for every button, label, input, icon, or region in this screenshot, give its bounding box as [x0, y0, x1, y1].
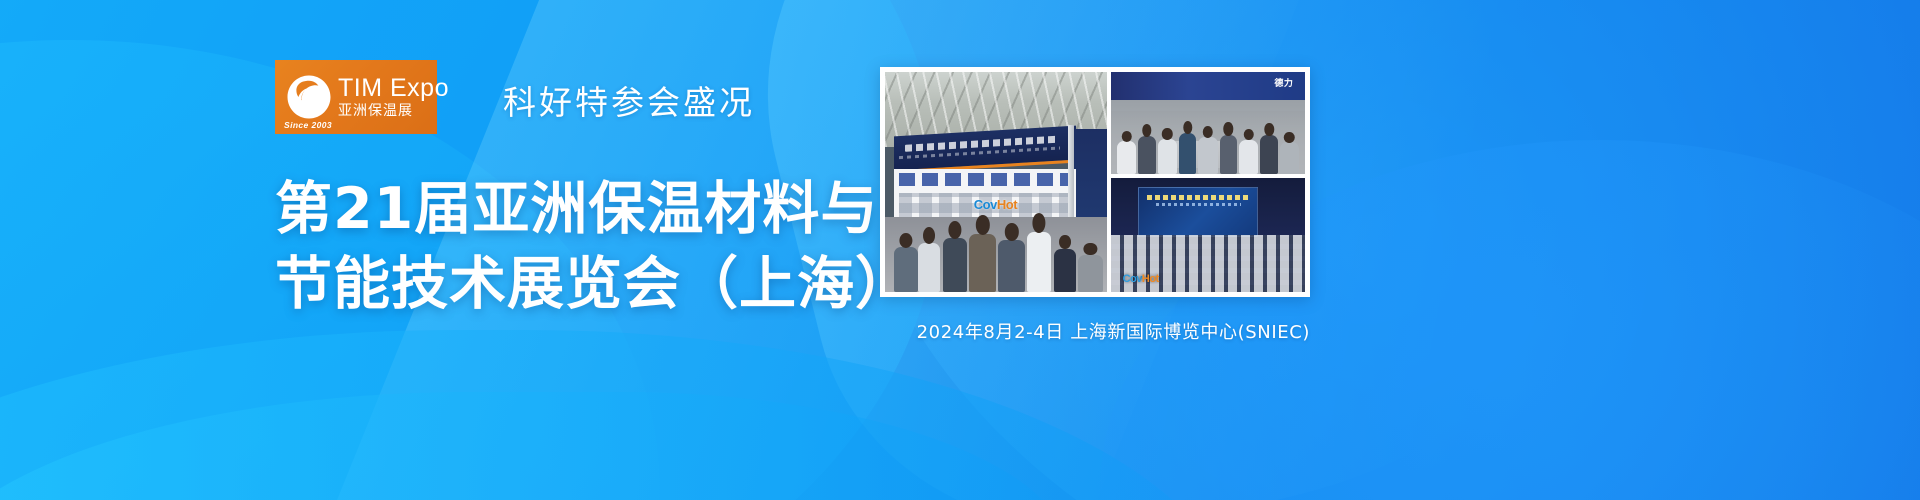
banner-text-block: TIM Expo 亚洲保温展 Since 2003 科好特参会盛况 第21届亚洲…: [275, 60, 875, 322]
logo-title-cn: 亚洲保温展: [338, 104, 449, 118]
visitor: [969, 234, 996, 292]
visitor: [1198, 137, 1217, 174]
background-wave-3: [0, 330, 1240, 500]
yin-yang-swirl-icon: [284, 72, 334, 122]
tim-expo-logo: TIM Expo 亚洲保温展 Since 2003: [275, 60, 437, 134]
visitor: [1220, 135, 1237, 174]
exhibition-booth-photo: CovHot: [885, 72, 1107, 292]
covhot-part-1: Cov: [974, 197, 997, 212]
visitor: [1179, 133, 1196, 173]
visitor: [894, 247, 918, 292]
banner-subtitle: 科好特参会盛况: [503, 76, 755, 124]
visitor: [1027, 232, 1051, 292]
visitor: [1158, 139, 1177, 174]
booth-visitors: [885, 217, 1107, 292]
covhot-brand-mark: CovHot: [974, 197, 1017, 212]
visitor: [1260, 135, 1277, 174]
aisle-visitors: [1111, 111, 1305, 174]
visitor: [1239, 140, 1258, 174]
photo-side-column: 德力: [1111, 72, 1305, 292]
logo-since-text: Since 2003: [284, 120, 332, 130]
screen-subtitle-text: [1156, 203, 1241, 206]
visitor: [1054, 249, 1076, 292]
expo-banner: TIM Expo 亚洲保温展 Since 2003 科好特参会盛况 第21届亚洲…: [0, 0, 1920, 500]
visitor: [998, 240, 1025, 292]
visitor: [1280, 142, 1299, 174]
photo-collage: CovHot 德力: [880, 67, 1310, 297]
visitor: [1078, 255, 1102, 292]
exhibition-aisle-photo: 德力: [1111, 72, 1305, 174]
banner-title-line-2: 节能技术展览会（上海）: [275, 247, 875, 322]
banner-title-line-1: 第21届亚洲保温材料与: [275, 172, 875, 247]
visitor: [1138, 136, 1155, 174]
logo-title-en: TIM Expo: [338, 76, 449, 101]
visitor: [918, 243, 940, 292]
screen-title-text: [1147, 195, 1249, 200]
visitor: [1117, 141, 1136, 174]
seminar-audience-photo: CovHot: [1111, 178, 1305, 292]
banner-title: 第21届亚洲保温材料与 节能技术展览会（上海）: [275, 172, 875, 322]
background-wave-4: [0, 392, 1070, 500]
date-venue-text: 2024年8月2-4日 上海新国际博览中心(SNIEC): [880, 318, 1310, 344]
covhot-part-2: Hot: [1142, 273, 1159, 285]
visitor: [943, 238, 967, 292]
covhot-brand-mark: CovHot: [1123, 273, 1159, 285]
covhot-part-1: Cov: [1123, 273, 1142, 285]
aisle-signage-text: 德力: [1274, 76, 1293, 89]
covhot-part-2: Hot: [997, 197, 1017, 212]
presentation-screen: [1138, 187, 1258, 237]
